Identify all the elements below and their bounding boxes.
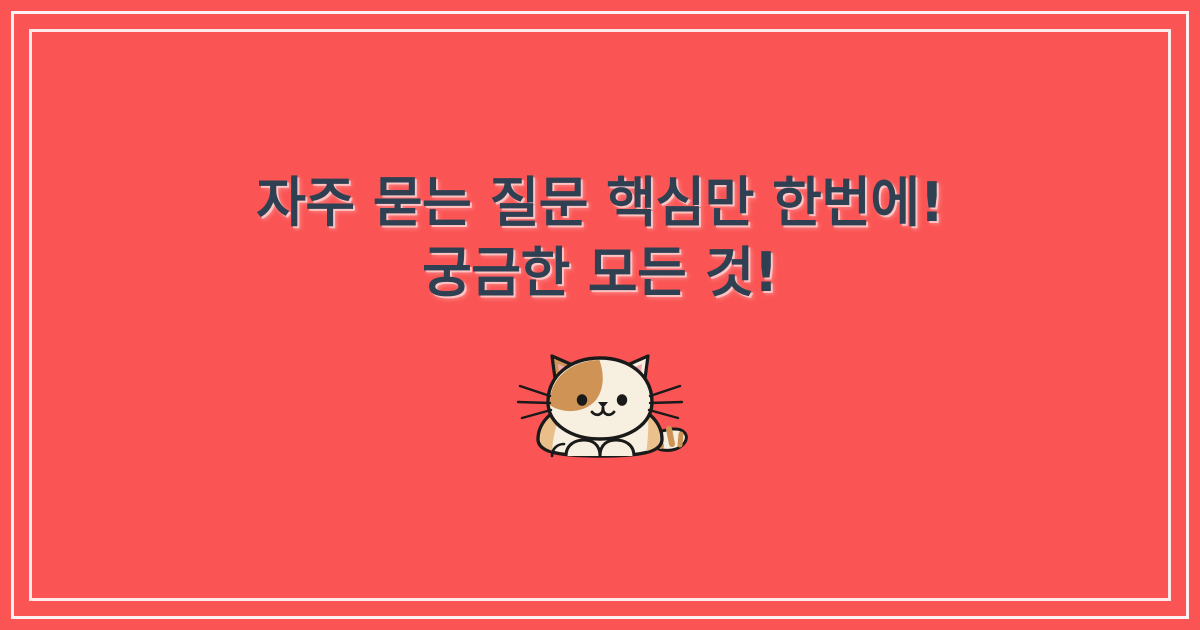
- cat-right-eye: [617, 394, 627, 406]
- banner-content: 자주 묻는 질문 핵심만 한번에! 궁금한 모든 것!: [0, 0, 1200, 630]
- calico-cat-mascot-icon: [500, 342, 700, 462]
- page-title: 자주 묻는 질문 핵심만 한번에! 궁금한 모든 것!: [250, 168, 950, 308]
- banner-card: 자주 묻는 질문 핵심만 한번에! 궁금한 모든 것!: [0, 0, 1200, 630]
- cat-illustration: [500, 342, 700, 462]
- cat-left-eye: [577, 394, 587, 406]
